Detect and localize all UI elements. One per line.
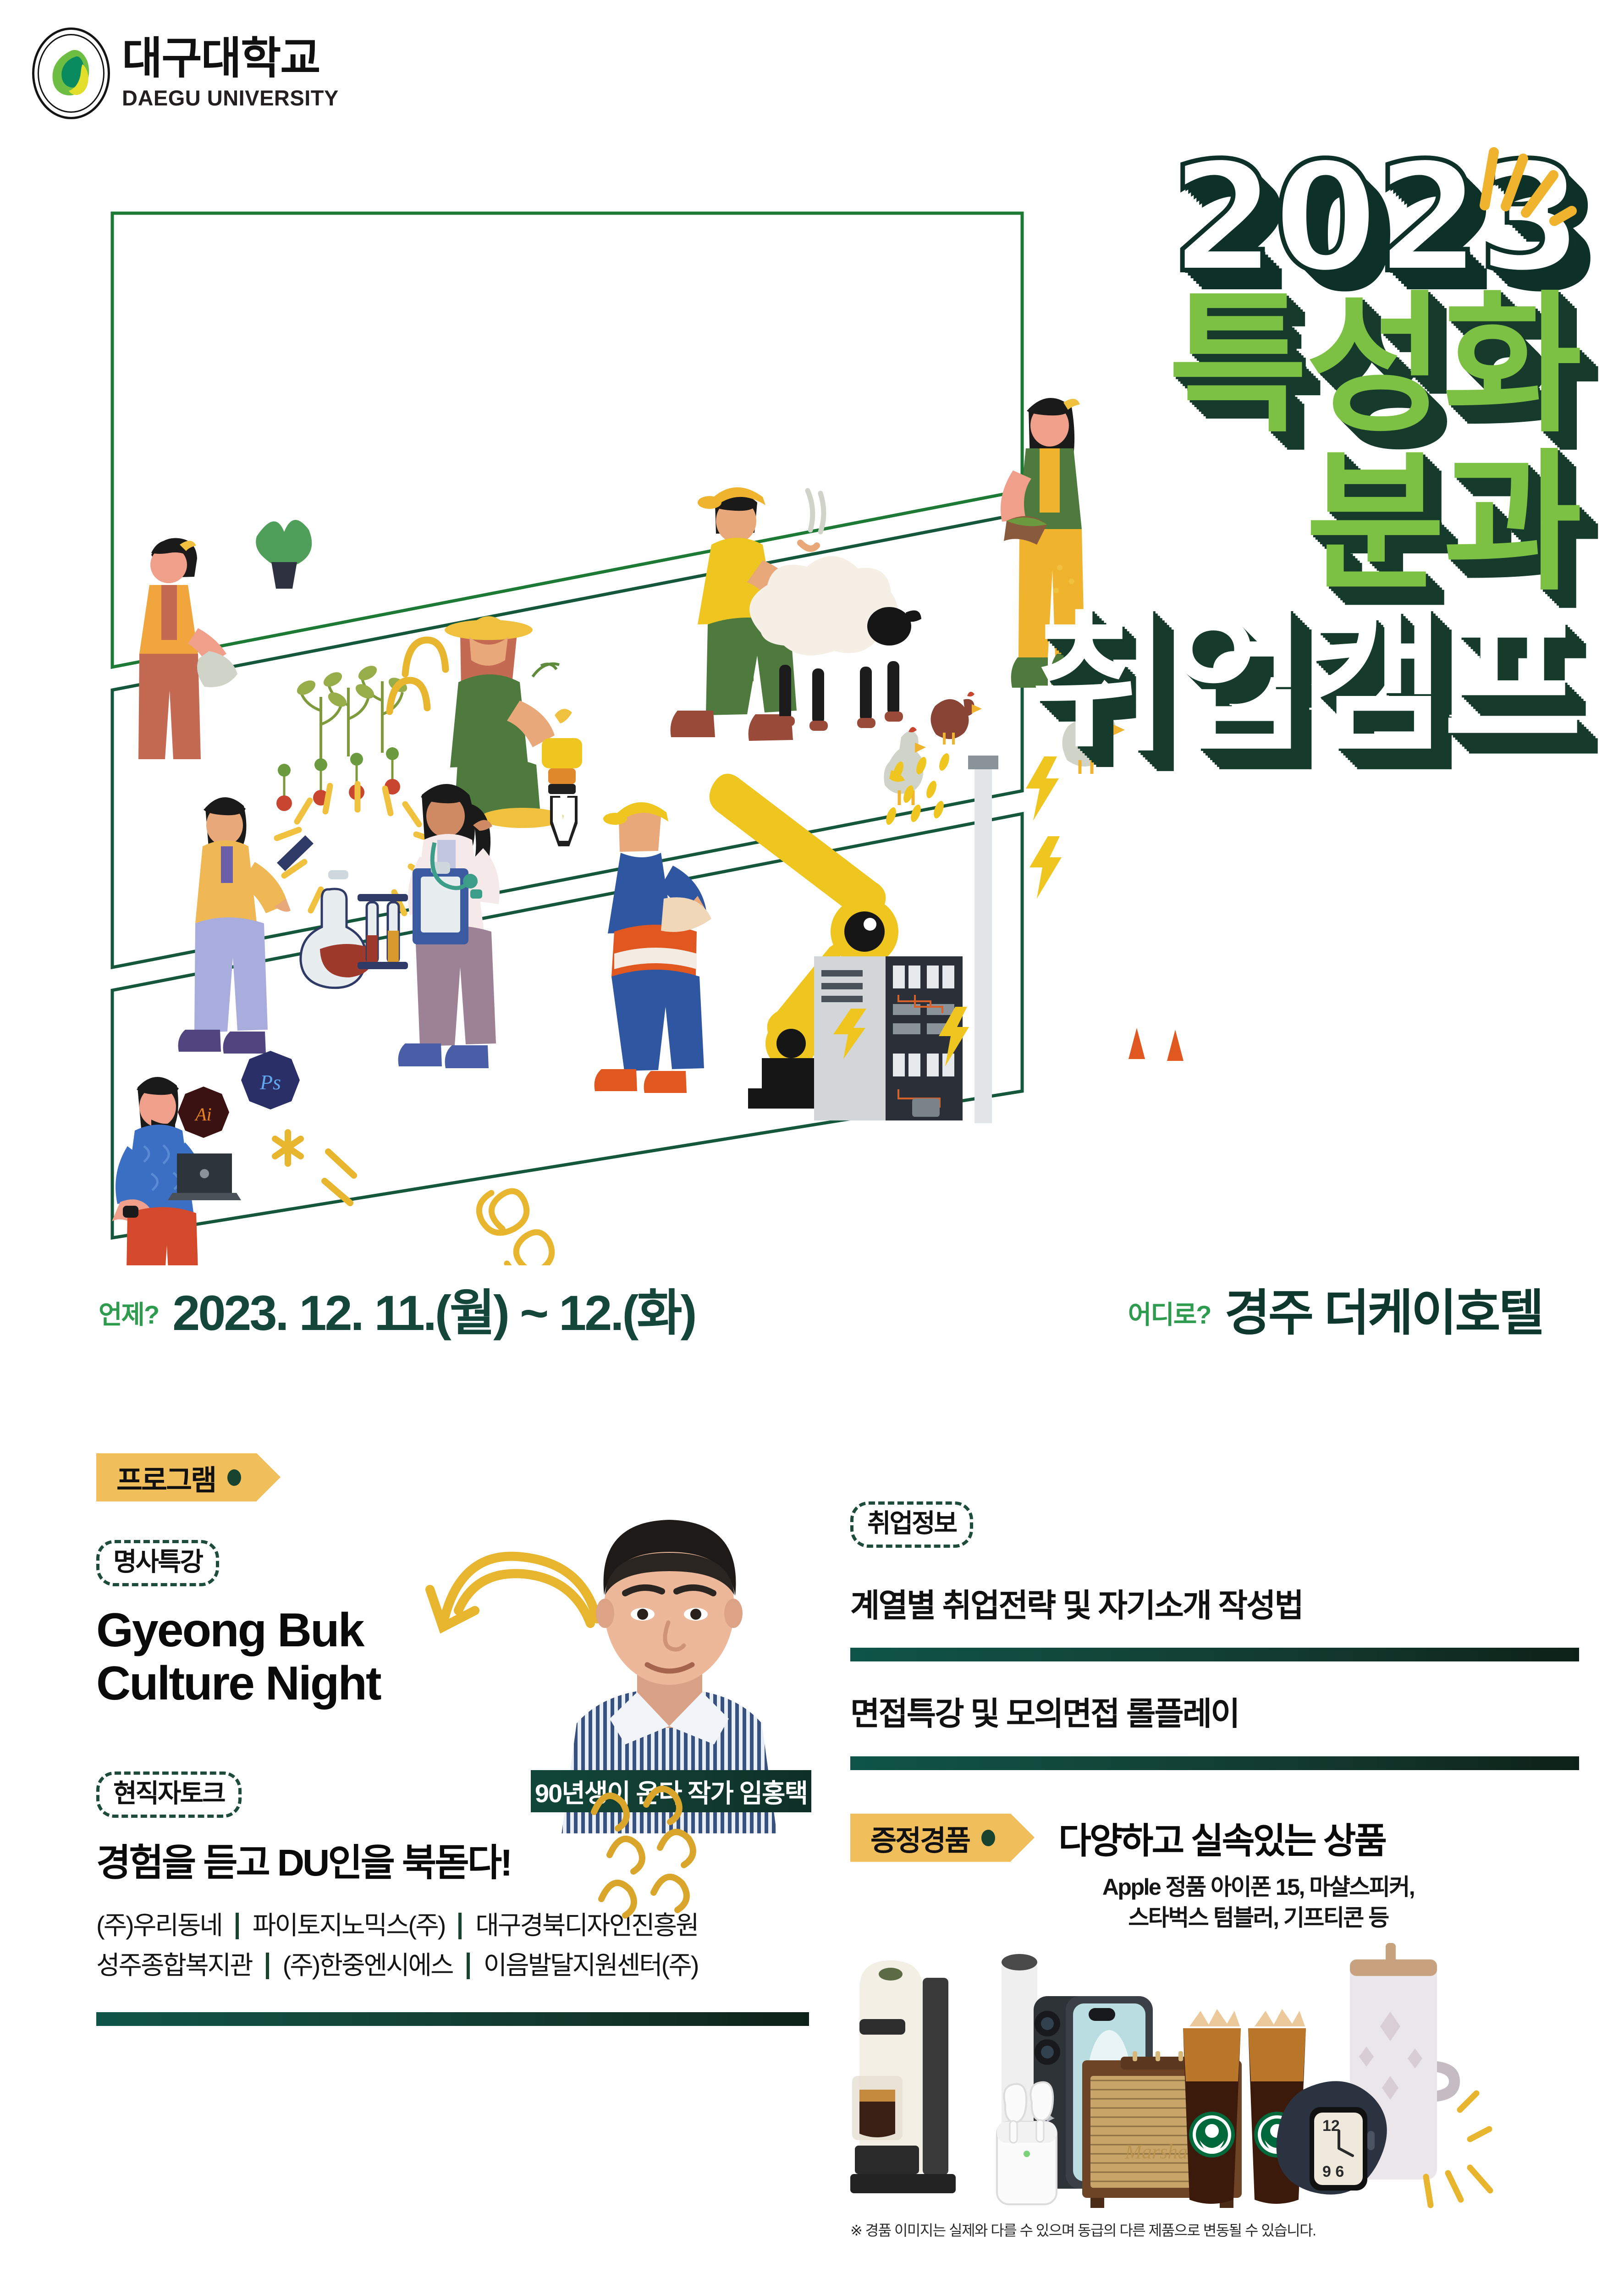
brand-logo: 대구대학교 DAEGU UNIVERSITY bbox=[32, 28, 339, 119]
svg-text:12: 12 bbox=[1322, 2117, 1340, 2135]
svg-text:Ai: Ai bbox=[194, 1104, 212, 1125]
logo-name-english: DAEGU UNIVERSITY bbox=[122, 85, 339, 110]
where-label: 어디로? bbox=[1128, 1294, 1211, 1338]
prize-tag-label: 증정경품 bbox=[870, 1817, 969, 1859]
when-label: 언제? bbox=[99, 1294, 159, 1338]
prize-headline: 다양하고 실속있는 상품 bbox=[1058, 1812, 1385, 1864]
company-name: 파이토지노믹스(주) bbox=[253, 1906, 445, 1946]
coffee-machine-icon bbox=[850, 1960, 956, 2193]
program-tag: 프로그램 bbox=[96, 1453, 257, 1501]
prize-products-image: Marshall bbox=[850, 1938, 1579, 2223]
separator-icon bbox=[467, 1953, 470, 1979]
job-info-column: 취업정보 계열별 취업전략 및 자기소개 작성법 면접특강 및 모의면접 롤플레… bbox=[850, 1501, 1579, 2240]
prize-detail: Apple 정품 아이폰 15, 마샬스피커, 스타벅스 텀블러, 기프티콘 등 bbox=[988, 1872, 1529, 1934]
company-name: (주)우리동네 bbox=[96, 1906, 222, 1946]
prize-detail-line2: 스타벅스 텀블러, 기프티콘 등 bbox=[988, 1903, 1529, 1934]
separator-icon bbox=[236, 1913, 239, 1939]
illustration-band-science bbox=[178, 738, 1062, 1123]
event-datetime-row: 언제? 2023. 12. 11.(월) ~ 12.(화) 어디로? 경주 더케… bbox=[99, 1288, 1542, 1338]
program-tag-label: 프로그램 bbox=[116, 1457, 215, 1498]
company-name: 이음발달지원센터(주) bbox=[484, 1946, 698, 1986]
job-info-badge: 취업정보 bbox=[850, 1501, 973, 1548]
section-divider bbox=[96, 2012, 809, 2026]
svg-text:9 6: 9 6 bbox=[1322, 2163, 1344, 2180]
tag-dot-icon bbox=[981, 1830, 995, 1846]
tag-dot-icon bbox=[227, 1469, 241, 1486]
job-info-divider bbox=[850, 1756, 1579, 1770]
separator-icon bbox=[458, 1913, 462, 1939]
svg-text:Ps: Ps bbox=[259, 1071, 281, 1094]
seal-leaf-mark-icon bbox=[49, 48, 94, 99]
cheer-lines-icon bbox=[582, 1776, 715, 1932]
title-line-2: 분과 bbox=[1031, 446, 1580, 601]
when-value: 2023. 12. 11.(월) ~ 12.(화) bbox=[172, 1288, 695, 1338]
talk-badge: 현직자토크 bbox=[96, 1771, 242, 1818]
poster-title-block: 2023 특성화 분과 취업캠프 bbox=[1031, 151, 1580, 761]
title-line-3: 취업캠프 bbox=[1031, 607, 1580, 761]
prize-detail-line1: Apple 정품 아이폰 15, 마샬스피커, bbox=[988, 1872, 1529, 1903]
earbuds-icon bbox=[997, 2082, 1057, 2204]
job-info-divider bbox=[850, 1648, 1579, 1661]
program-column: 프로그램 명사특강 Gyeong Buk Culture Night bbox=[96, 1453, 811, 2026]
company-row: 성주종합복지관 (주)한중엔시에스 이음발달지원센터(주) bbox=[96, 1946, 811, 1986]
starbucks-drink-icon bbox=[1183, 2009, 1241, 2204]
keynote-badge: 명사특강 bbox=[96, 1540, 219, 1586]
logo-name-korean: 대구대학교 bbox=[122, 37, 339, 81]
job-info-item: 계열별 취업전략 및 자기소개 작성법 bbox=[850, 1587, 1579, 1624]
prize-products-svg: Marshall bbox=[850, 1938, 1579, 2223]
where-value: 경주 더케이호텔 bbox=[1224, 1288, 1542, 1338]
daegu-university-seal-icon bbox=[32, 28, 110, 119]
company-name: (주)한중엔시에스 bbox=[283, 1946, 453, 1986]
company-name: 성주종합복지관 bbox=[96, 1946, 252, 1986]
prize-tag: 증정경품 bbox=[850, 1814, 1011, 1862]
job-info-item: 면접특강 및 모의면접 롤플레이 bbox=[850, 1695, 1579, 1733]
title-line-1: 특성화 bbox=[1031, 288, 1580, 442]
separator-icon bbox=[266, 1953, 269, 1979]
sparkle-icon bbox=[1441, 147, 1578, 243]
